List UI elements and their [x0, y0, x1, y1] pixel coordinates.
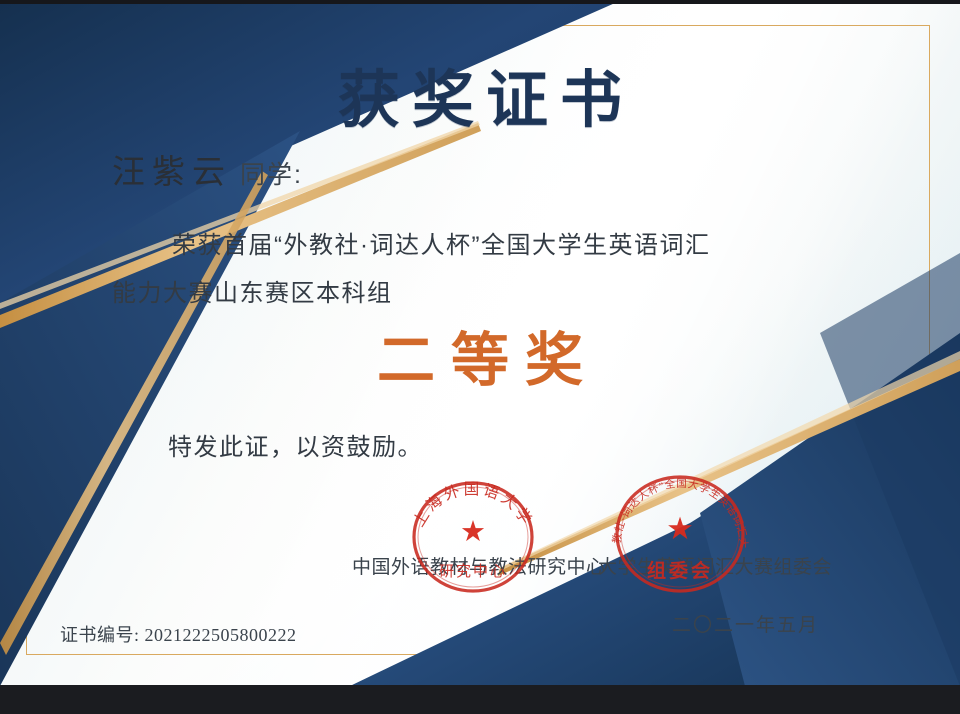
seal-left-star-icon: ★ [460, 516, 486, 548]
seal-left-research-center: 上海外国语大学 ★ 研究中心 [398, 475, 548, 599]
recipient-line: 汪紫云 同学: [112, 145, 303, 193]
certificate-number: 证书编号: 2021222505800222 [60, 621, 297, 647]
seal-right-star-icon: ★ [666, 511, 694, 546]
signature-left: 中国外语教材与教法研究中心 [352, 552, 606, 579]
certificate-content: 获奖证书 汪紫云 同学: 荣获首届“外教社·词达人杯”全国大学生英语词汇 能力大… [0, 3, 960, 686]
certificate-screenshot: 获奖证书 汪紫云 同学: 荣获首届“外教社·词达人杯”全国大学生英语词汇 能力大… [0, 0, 960, 714]
svg-text:“外教社·词达人杯”全国大学生英语词汇大赛: “外教社·词达人杯”全国大学生英语词汇大赛 [600, 469, 750, 549]
closing-text: 特发此证，以资鼓励。 [168, 427, 423, 462]
page-title: 获奖证书 [0, 49, 960, 139]
seal-right-arc-text: “外教社·词达人杯”全国大学生英语词汇大赛 [600, 469, 750, 549]
seal-right-organizing-committee: “外教社·词达人杯”全国大学生英语词汇大赛 ★ 组委会 [600, 469, 760, 601]
svg-text:上海外国语大学: 上海外国语大学 [410, 481, 537, 530]
recipient-suffix: 同学: [240, 155, 303, 191]
issue-date: 二〇二一年五月 [672, 610, 819, 637]
award-level: 二等奖 [0, 313, 960, 397]
letterbox-bar-bottom [0, 685, 960, 714]
certificate-number-value: 2021222505800222 [145, 625, 297, 645]
letterbox-bar-top [0, 0, 960, 4]
signature-right: 大学生英语词汇大赛组委会 [598, 552, 832, 579]
recipient-name: 汪紫云 [112, 145, 232, 193]
body-text-line-1: 荣获首届“外教社·词达人杯”全国大学生英语词汇 [172, 225, 710, 260]
body-text-line-2: 能力大赛山东赛区本科组 [112, 273, 393, 308]
certificate-plate: 获奖证书 汪紫云 同学: 荣获首届“外教社·词达人杯”全国大学生英语词汇 能力大… [0, 3, 960, 686]
seal-left-arc-text: 上海外国语大学 [410, 481, 537, 530]
certificate-number-label: 证书编号: [60, 625, 140, 645]
